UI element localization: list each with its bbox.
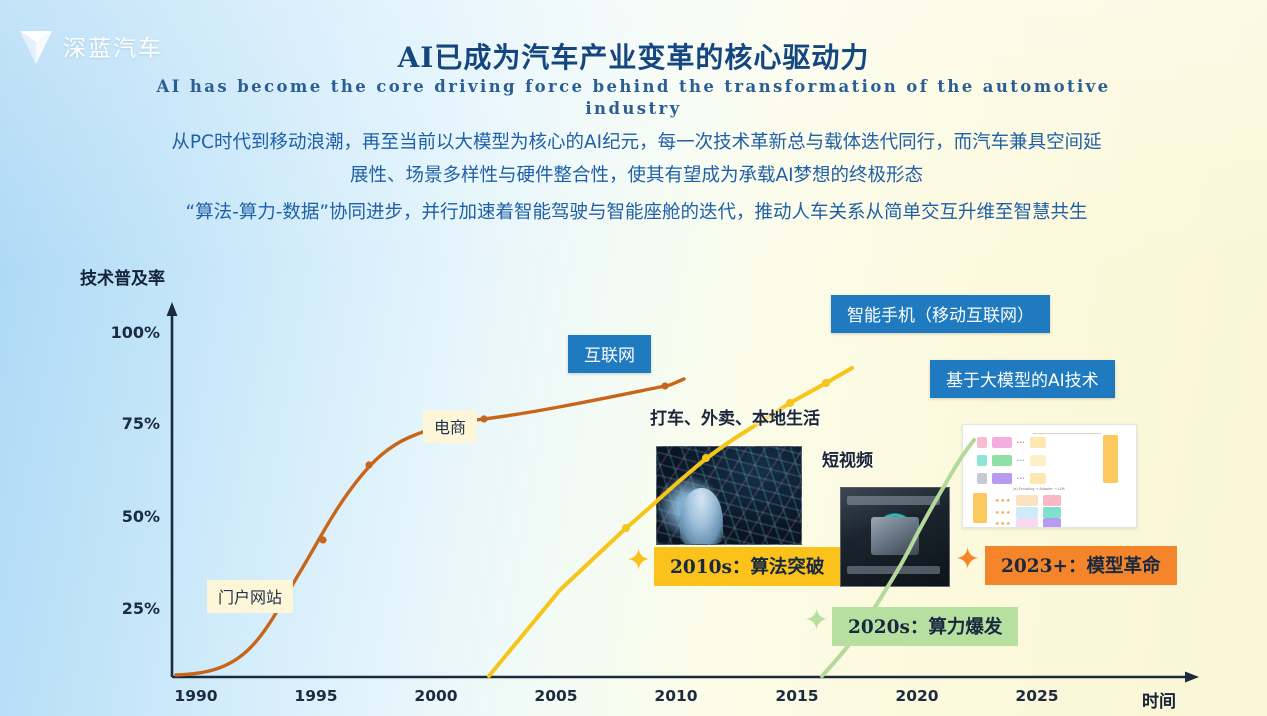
era-label-2020s: 算力爆发 (928, 617, 1002, 638)
sparkle-icon: ✦ (626, 546, 651, 576)
era-badge-2020s: 2020s：算力爆发 (832, 607, 1018, 646)
era-label-2010s: 算法突破 (750, 557, 824, 578)
chart-curves (0, 250, 1267, 716)
era-period-2020s: 2020s： (848, 617, 928, 638)
page-subtitle: AI has become the core driving force beh… (120, 76, 1147, 120)
annotation-llm-ai-tech: 基于大模型的AI技术 (930, 360, 1115, 398)
page-title: AI已成为汽车产业变革的核心驱动力 (0, 36, 1267, 76)
sparkle-icon: ✦ (955, 545, 980, 575)
intro-paragraph: 从PC时代到移动浪潮，再至当前以大模型为核心的AI纪元，每一次技术革新总与载体迭… (78, 126, 1195, 229)
intro-line-1: 从PC时代到移动浪潮，再至当前以大模型为核心的AI纪元，每一次技术革新总与载体迭… (78, 126, 1195, 159)
intro-line-2: 展性、场景多样性与硬件整合性，使其有望成为承载AI梦想的终极形态 (78, 159, 1195, 192)
datapoint-internet (319, 536, 326, 543)
technology-adoption-chart: 技术普及率 时间 100% 75% 50% 25% 1990 1995 2000… (0, 250, 1267, 716)
annotation-ecommerce: 电商 (423, 410, 477, 443)
annotation-short-video: 短视频 (822, 446, 873, 471)
datapoint-internet (661, 382, 668, 389)
datapoint-mobile (822, 379, 830, 387)
annotation-smartphone: 智能手机（移动互联网） (831, 295, 1050, 333)
x-axis-arrowhead (1185, 672, 1199, 683)
annotation-portal-sites: 门户网站 (207, 580, 293, 613)
annotation-internet: 互联网 (568, 335, 651, 373)
era-period-2023: 2023+： (1001, 556, 1087, 577)
annotation-ride-food-local: 打车、外卖、本地生活 (650, 404, 820, 429)
datapoint-internet (480, 415, 487, 422)
datapoint-mobile (702, 454, 710, 462)
era-period-2010s: 2010s： (670, 557, 750, 578)
intro-line-3: “算法-算力-数据”协同进步，并行加速着智能驾驶与智能座舱的迭代，推动人车关系从… (78, 196, 1195, 229)
sparkle-icon: ✦ (804, 606, 829, 636)
datapoint-mobile (622, 524, 630, 532)
y-axis-arrowhead (167, 302, 178, 316)
datapoint-internet (365, 461, 372, 468)
era-badge-2010s: 2010s：算法突破 (654, 547, 840, 586)
era-label-2023: 模型革命 (1087, 556, 1161, 577)
era-badge-2023: 2023+：模型革命 (985, 546, 1177, 585)
